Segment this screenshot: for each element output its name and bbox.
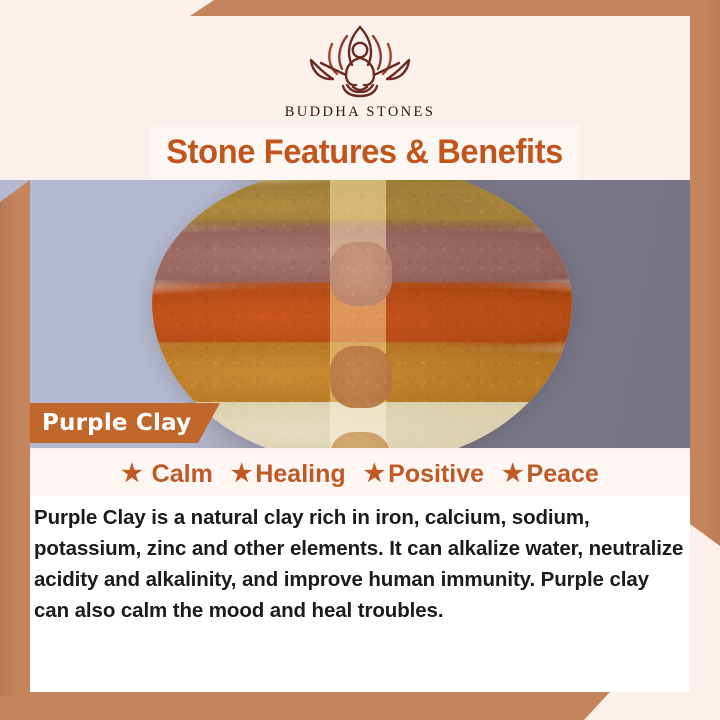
star-icon: ★ — [502, 462, 524, 486]
lotus-meditation-logo-icon — [285, 22, 435, 100]
benefit-label: Peace — [527, 460, 599, 489]
benefit-item-healing: ★ Healing — [231, 460, 346, 489]
stone-name-banner: Purple Clay — [20, 403, 220, 443]
stone-name-label: Purple Clay — [42, 410, 191, 436]
frame-accent-top — [190, 0, 720, 16]
star-icon: ★ — [121, 462, 143, 486]
frame-accent-right — [690, 0, 720, 546]
benefit-item-peace: ★ Peace — [502, 460, 599, 489]
star-icon: ★ — [364, 462, 386, 486]
benefit-label: Positive — [388, 460, 484, 489]
description-text: Purple Clay is a natural clay rich in ir… — [30, 496, 690, 626]
benefit-label: Calm — [152, 460, 213, 489]
frame-accent-left — [0, 180, 30, 696]
page-title: Stone Features & Benefits — [167, 133, 564, 172]
brand-name: BUDDHA STONES — [285, 104, 436, 121]
benefits-row: ★ Calm ★ Healing ★ Positive ★ Peace — [0, 452, 720, 496]
frame-accent-bottom — [0, 692, 610, 720]
benefit-item-positive: ★ Positive — [364, 460, 484, 489]
description-panel: Purple Clay is a natural clay rich in ir… — [30, 496, 690, 692]
star-icon: ★ — [231, 462, 253, 486]
title-strip: Stone Features & Benefits — [150, 125, 580, 180]
product-feature-card: BUDDHA STONES Stone Features & Benefits … — [0, 0, 720, 720]
brand-logo: BUDDHA STONES — [0, 22, 720, 121]
benefit-label: Healing — [255, 460, 345, 489]
benefit-item-calm: ★ Calm — [121, 460, 213, 489]
